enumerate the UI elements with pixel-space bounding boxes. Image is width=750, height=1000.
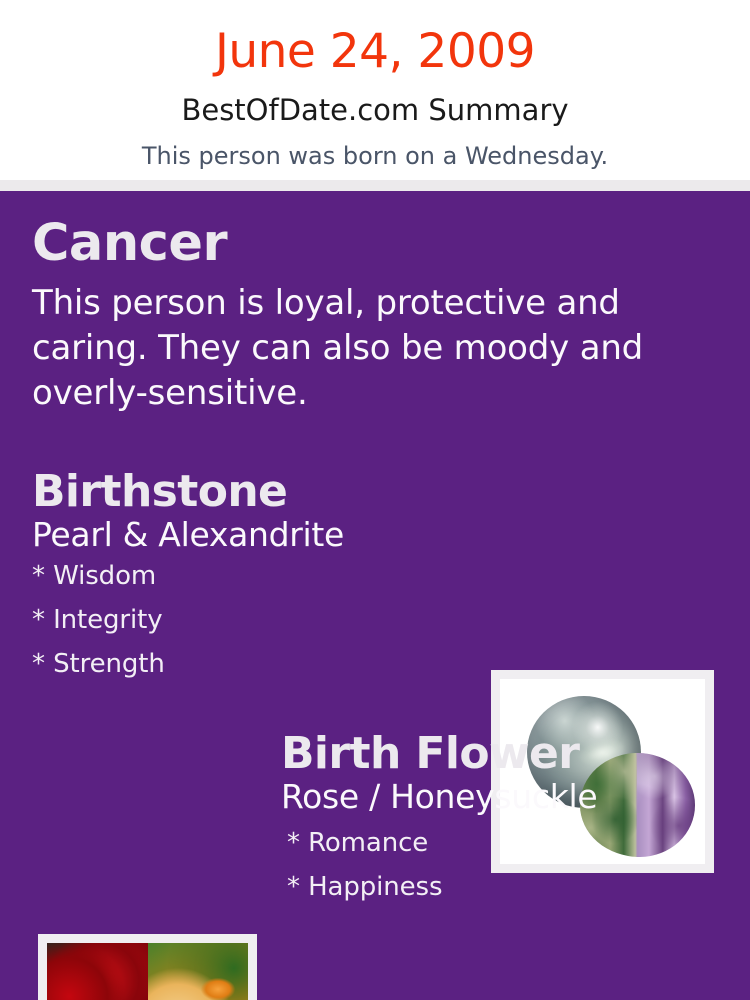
card-header: June 24, 2009 BestOfDate.com Summary Thi…: [0, 0, 750, 180]
birth-day-note: This person was born on a Wednesday.: [0, 125, 750, 168]
birthstone-section: Birthstone Pearl & Alexandrite * Wisdom …: [32, 469, 472, 695]
birth-flower-trait-list: * Romance * Happiness: [281, 816, 711, 918]
page-title-date: June 24, 2009: [0, 0, 750, 75]
header-divider: [0, 180, 750, 191]
site-name: BestOfDate.com Summary: [0, 75, 750, 125]
list-item: * Wisdom: [32, 563, 472, 607]
birth-flower-section: Birth Flower Rose / Honeysuckle * Romanc…: [281, 731, 711, 918]
zodiac-sign-name: Cancer: [32, 217, 692, 271]
zodiac-description: This person is loyal, protective and car…: [32, 271, 692, 417]
birth-flower-image: [47, 943, 248, 1000]
list-item: * Strength: [32, 651, 472, 695]
birth-flower-image-frame: [38, 934, 257, 1000]
rose-honeysuckle-art: [47, 943, 248, 1000]
honeysuckle-icon: [148, 943, 249, 1000]
list-item: * Integrity: [32, 607, 472, 651]
rose-icon: [47, 943, 148, 1000]
zodiac-section: Cancer This person is loyal, protective …: [32, 217, 692, 417]
birthstone-trait-list: * Wisdom * Integrity * Strength: [32, 554, 472, 695]
summary-card: June 24, 2009 BestOfDate.com Summary Thi…: [0, 0, 750, 1000]
birthstone-title: Birthstone: [32, 469, 472, 515]
list-item: * Happiness: [287, 874, 711, 918]
birth-flower-title: Birth Flower: [281, 731, 711, 777]
birth-flower-names: Rose / Honeysuckle: [281, 777, 711, 816]
details-panel: Cancer This person is loyal, protective …: [0, 191, 750, 1000]
list-item: * Romance: [287, 830, 711, 874]
birthstone-names: Pearl & Alexandrite: [32, 515, 472, 554]
